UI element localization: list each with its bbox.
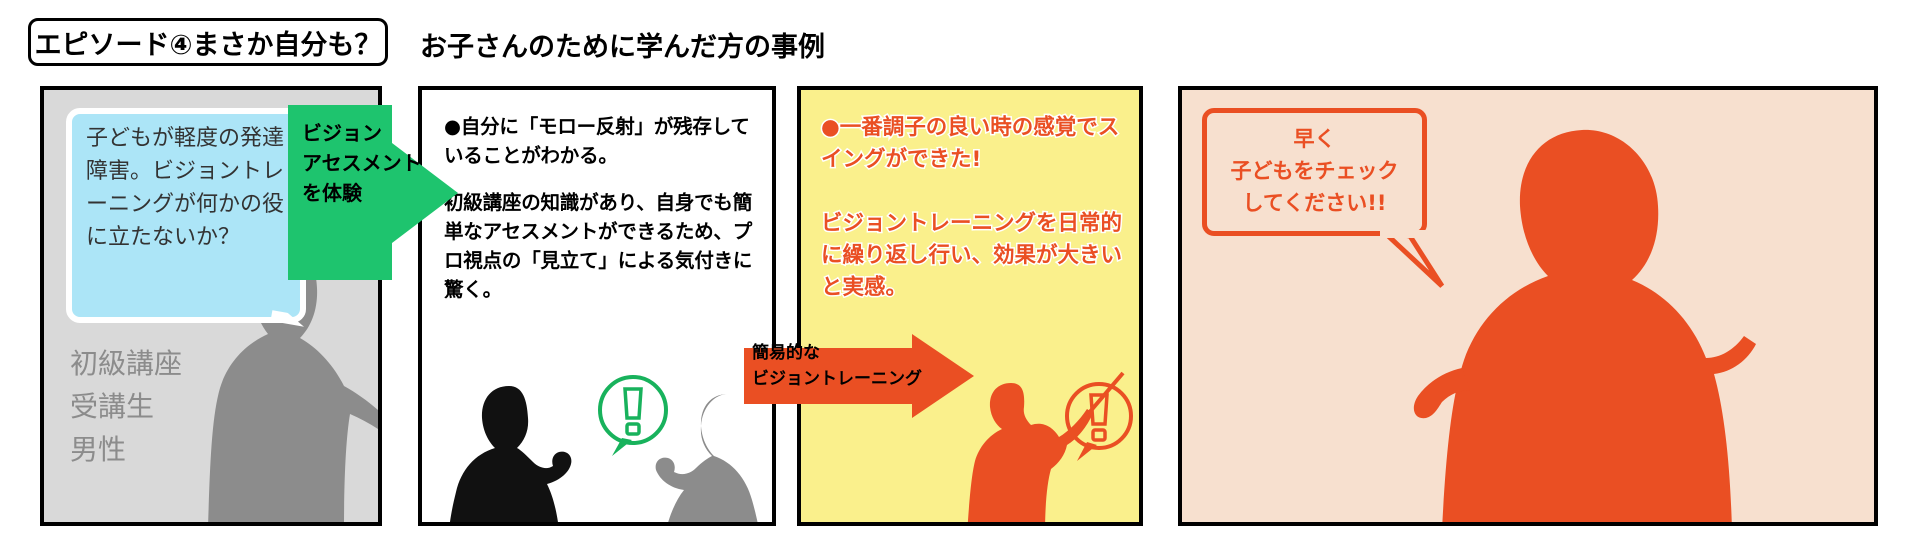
page-header: エピソード④まさか自分も？ お子さんのために学んだ方の事例	[0, 0, 1920, 82]
orange-arrow-label: 簡易的な ビジョントレーニング	[752, 340, 932, 392]
exclamation-speech-bubble-icon	[1059, 380, 1139, 462]
speech-bubble-panel-4: 早く 子どもをチェック してください!!	[1202, 108, 1427, 236]
speech-bubble-text: 子どもが軽度の発達障害。ビジョントレーニングが何かの役に立たないか？	[86, 122, 296, 254]
person-dark-silhouette	[447, 380, 597, 526]
panel-2-paragraph-2: 初級講座の知識があり、自身でも簡単なアセスメントができるため、プロ視点の「見立て…	[444, 188, 756, 304]
speech-bubble-text: 早く 子どもをチェック してください!!	[1207, 123, 1422, 219]
episode-badge-label: エピソード④まさか自分も？	[35, 23, 382, 62]
panel-4: 早く 子どもをチェック してください!!	[1178, 86, 1878, 526]
green-arrow-label: ビジョン アセスメント を体験	[302, 118, 422, 208]
panel-3-paragraph-2: ビジョントレーニングを日常的に繰り返し行い、効果が大きいと実感。	[821, 208, 1133, 304]
panel-1-caption: 初級講座 受講生 男性	[70, 342, 182, 471]
panel-3: ●一番調子の良い時の感覚でスイングができた! ビジョントレーニングを日常的に繰り…	[797, 86, 1143, 526]
panel-2-paragraph-1: ●自分に「モロー反射」が残存していることがわかる。	[444, 112, 752, 170]
speech-bubble-tail-panel-4	[1380, 230, 1450, 292]
panel-2: ●自分に「モロー反射」が残存していることがわかる。 初級講座の知識があり、自身で…	[418, 86, 776, 526]
speech-bubble-panel-1: 子どもが軽度の発達障害。ビジョントレーニングが何かの役に立たないか？	[66, 108, 306, 323]
page-title: お子さんのために学んだ方の事例	[420, 25, 825, 64]
panel-3-paragraph-1: ●一番調子の良い時の感覚でスイングができた!	[821, 112, 1131, 176]
episode-badge: エピソード④まさか自分も？	[28, 18, 388, 66]
